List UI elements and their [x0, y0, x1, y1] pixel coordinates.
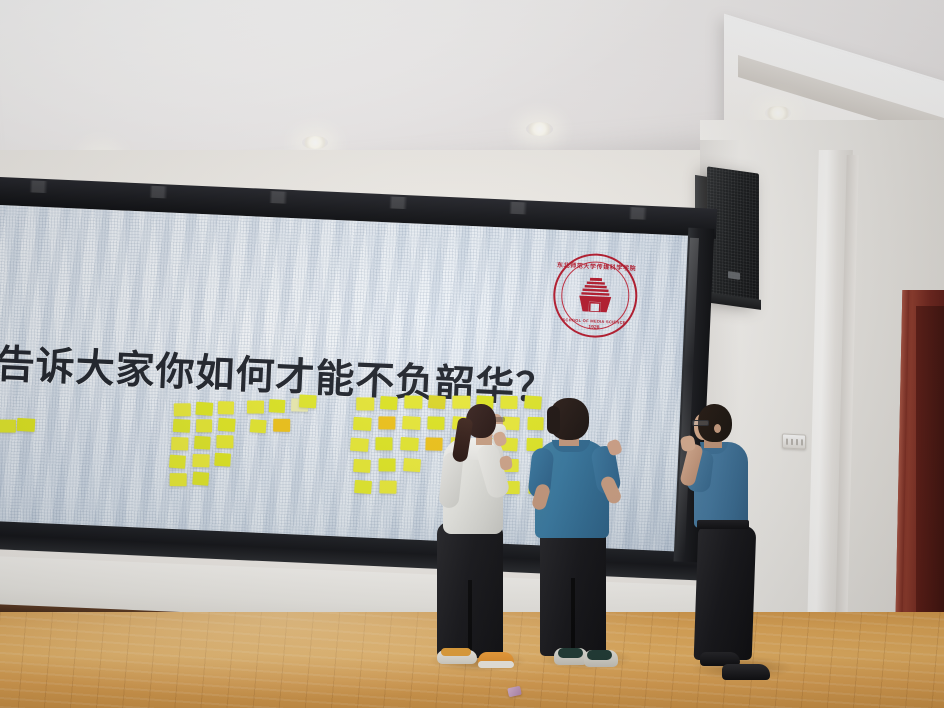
sticky-note[interactable]: [524, 395, 542, 409]
speaker-logo-badge: [728, 271, 740, 280]
sticky-note[interactable]: [170, 473, 187, 486]
wall-socket[interactable]: [782, 433, 806, 449]
sticky-note[interactable]: [527, 417, 543, 430]
downlight-icon: [302, 136, 328, 149]
sticky-note[interactable]: [378, 458, 395, 471]
sticky-note[interactable]: [353, 417, 372, 431]
sticky-note[interactable]: [400, 437, 419, 451]
person-a-right-hand: [499, 455, 513, 471]
downlight-icon: [526, 122, 553, 136]
sticky-note[interactable]: [403, 458, 421, 472]
sticky-note[interactable]: [196, 419, 212, 432]
sticky-note[interactable]: [192, 472, 209, 486]
sticky-note[interactable]: [452, 396, 470, 409]
sticky-note[interactable]: [216, 435, 233, 448]
sticky-note[interactable]: [354, 480, 372, 494]
sticky-note[interactable]: [194, 436, 211, 450]
person-a-left-shoe-toe: [441, 648, 471, 656]
sticky-note[interactable]: [269, 399, 286, 413]
sticky-note[interactable]: [218, 418, 236, 432]
sticky-note[interactable]: [218, 401, 234, 414]
sticky-note[interactable]: [402, 416, 421, 430]
sticky-note[interactable]: [0, 419, 16, 432]
sticky-note[interactable]: [425, 437, 442, 450]
person-c-trousers: [694, 526, 757, 660]
sticky-note[interactable]: [250, 419, 267, 433]
led-screen-assembly: 东北师范大学传媒科学学院 SCHOOL OF MEDIA SCIENCE 192…: [0, 176, 717, 599]
sticky-note[interactable]: [500, 396, 517, 409]
sticky-note[interactable]: [173, 419, 191, 433]
sticky-note[interactable]: [427, 416, 444, 429]
sticky-note[interactable]: [353, 459, 371, 473]
sticky-note[interactable]: [375, 437, 392, 450]
sticky-note[interactable]: [273, 419, 290, 432]
sticky-note[interactable]: [17, 418, 36, 432]
sticky-note[interactable]: [299, 394, 317, 408]
sticky-note[interactable]: [350, 438, 369, 452]
sticky-note[interactable]: [195, 402, 213, 416]
person-b-hair-side: [547, 406, 560, 434]
person-c-right-shoe: [722, 664, 770, 680]
downlight-icon: [765, 106, 791, 120]
person-b-right-shoe-upper: [587, 650, 612, 660]
photo-scene: 东北师范大学传媒科学学院 SCHOOL OF MEDIA SCIENCE 192…: [0, 0, 944, 708]
person-a-right-shoe-sole: [478, 661, 514, 668]
sticky-note[interactable]: [192, 454, 209, 467]
person-c-belt: [697, 520, 749, 529]
sticky-note[interactable]: [356, 397, 374, 410]
person-c-ear: [714, 424, 721, 433]
sticky-note[interactable]: [171, 437, 188, 450]
sticky-note[interactable]: [428, 395, 446, 409]
person-c-glasses: [692, 420, 709, 426]
sticky-note[interactable]: [214, 453, 231, 467]
sticky-note[interactable]: [378, 416, 395, 429]
sticky-note[interactable]: [380, 396, 398, 410]
person-a-trouser-seam: [468, 580, 472, 658]
sticky-note[interactable]: [379, 480, 396, 493]
person-b-left-shoe-upper: [558, 648, 583, 658]
sticky-note[interactable]: [174, 403, 191, 416]
person-b-trouser-seam: [571, 578, 575, 656]
sticky-note[interactable]: [169, 455, 186, 469]
sticky-note[interactable]: [404, 395, 422, 408]
sticky-note[interactable]: [247, 400, 264, 413]
